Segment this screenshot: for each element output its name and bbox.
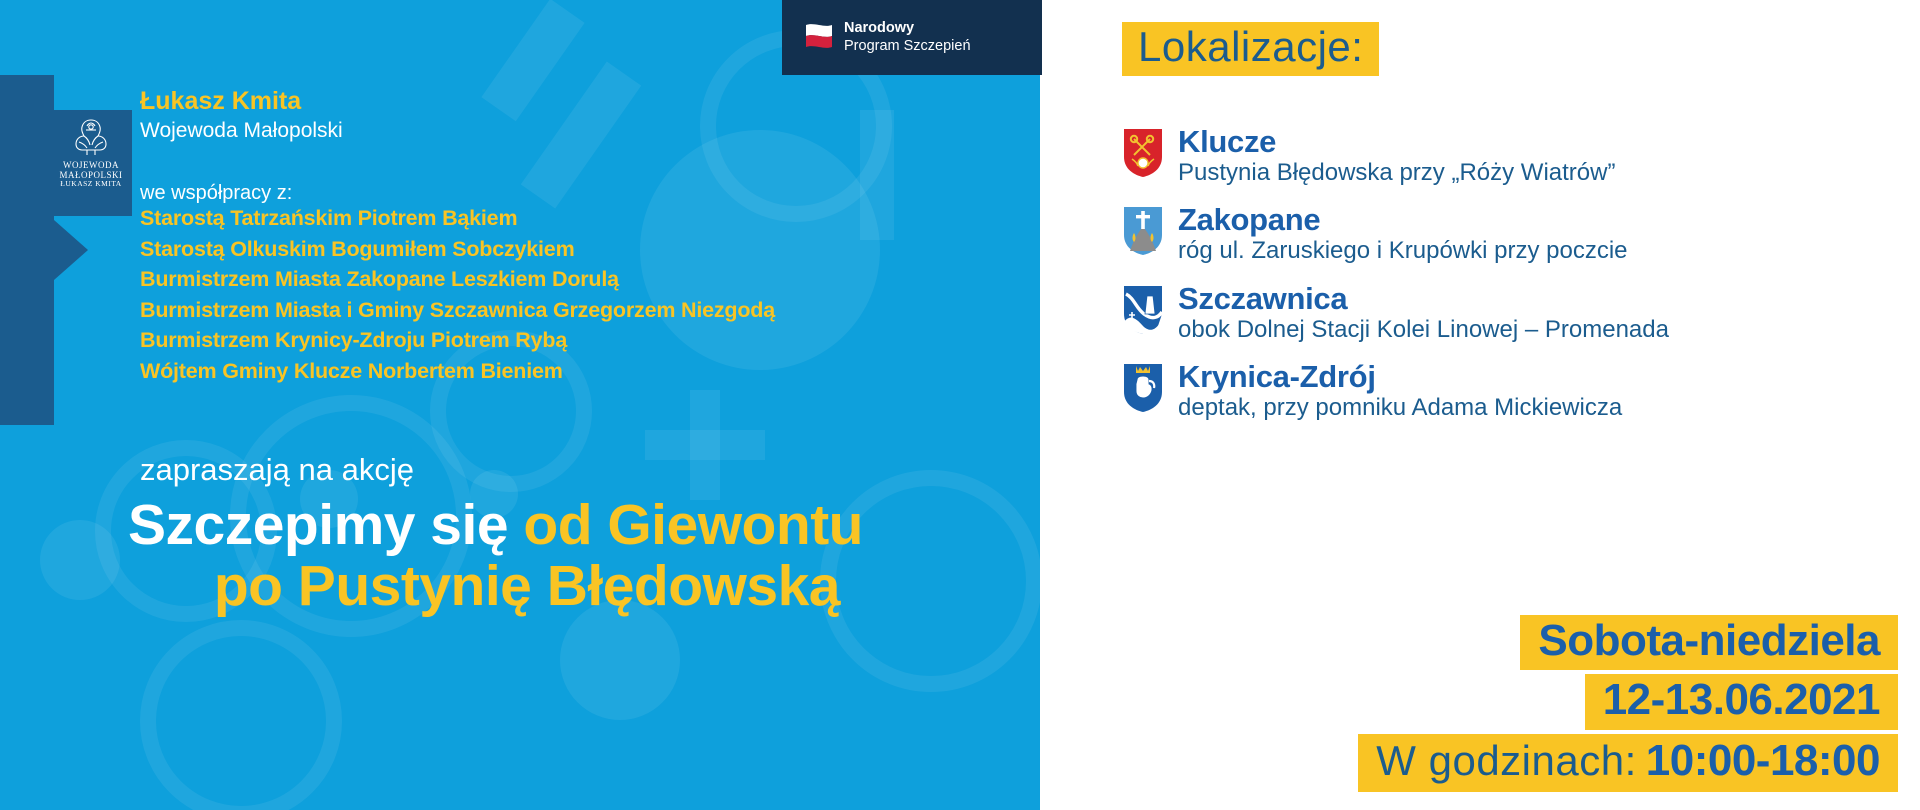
nps-line-1: Narodowy — [844, 20, 971, 37]
list-item: Klucze Pustynia Błędowska przy „Róży Wia… — [1122, 125, 1902, 186]
cooperation-list: Starostą Tatrzańskim Piotrem Bąkiem Star… — [140, 203, 775, 386]
governor-name-block: Łukasz Kmita Wojewoda Małopolski — [140, 88, 343, 143]
polish-eagle-icon — [71, 114, 111, 160]
right-locations-panel: Lokalizacje: — [1040, 0, 1920, 810]
location-city: Zakopane — [1178, 204, 1628, 236]
list-item: Krynica-Zdrój deptak, przy pomniku Adama… — [1122, 360, 1902, 421]
invitation-text: zapraszają na akcję — [140, 452, 414, 488]
cooperation-item: Burmistrzem Miasta Zakopane Leszkiem Dor… — [140, 264, 775, 295]
hours-row: W godzinach: 10:00-18:00 — [1358, 734, 1898, 792]
left-info-panel: WOJEWODA MAŁOPOLSKI ŁUKASZ KMITA Łukasz … — [0, 0, 1040, 810]
nps-line-2: Program Szczepień — [844, 38, 971, 55]
location-city: Klucze — [1178, 126, 1615, 158]
emblem-line-1: WOJEWODA — [63, 160, 119, 170]
hours-value: 10:00-18:00 — [1646, 736, 1880, 786]
location-text: Szczawnica obok Dolnej Stacji Kolei Lino… — [1178, 282, 1669, 343]
cooperation-item: Burmistrzem Miasta i Gminy Szczawnica Gr… — [140, 295, 775, 326]
polish-flag-icon — [804, 21, 834, 55]
nps-text: Narodowy Program Szczepień — [844, 20, 971, 54]
location-address: róg ul. Zaruskiego i Krupówki przy poczc… — [1178, 238, 1628, 265]
location-city: Krynica-Zdrój — [1178, 361, 1622, 393]
governor-name: Łukasz Kmita — [140, 88, 343, 116]
locations-list: Klucze Pustynia Błędowska przy „Róży Wia… — [1122, 125, 1902, 439]
szczawnica-coat-of-arms-icon — [1122, 284, 1164, 336]
location-address: deptak, przy pomniku Adama Mickiewicza — [1178, 395, 1622, 422]
voivode-emblem: WOJEWODA MAŁOPOLSKI ŁUKASZ KMITA — [50, 110, 132, 216]
event-schedule: Sobota-niedziela 12-13.06.2021 W godzina… — [1358, 615, 1898, 796]
watermark-dot — [40, 520, 120, 600]
location-text: Krynica-Zdrój deptak, przy pomniku Adama… — [1178, 360, 1622, 421]
watermark-ring — [140, 620, 342, 810]
slogan-white-part: Szczepimy się — [128, 493, 508, 557]
location-text: Klucze Pustynia Błędowska przy „Róży Wia… — [1178, 125, 1615, 186]
hours-label: W godzinach: — [1376, 737, 1636, 785]
cooperation-label: we współpracy z: — [140, 182, 292, 205]
location-text: Zakopane róg ul. Zaruskiego i Krupówki p… — [1178, 203, 1628, 264]
date-row: 12-13.06.2021 — [1358, 674, 1898, 730]
event-hours-box: W godzinach: 10:00-18:00 — [1358, 734, 1898, 792]
watermark-bar — [481, 0, 584, 121]
left-accent-stripe — [0, 75, 54, 425]
location-address: obok Dolnej Stacji Kolei Linowej – Prome… — [1178, 317, 1669, 344]
slogan-yellow-part: od Giewontu — [523, 493, 863, 557]
krynica-zdroj-coat-of-arms-icon — [1122, 362, 1164, 414]
cooperation-item: Burmistrzem Krynicy-Zdroju Piotrem Rybą — [140, 325, 775, 356]
list-item: Szczawnica obok Dolnej Stacji Kolei Lino… — [1122, 282, 1902, 343]
watermark-circle — [560, 600, 680, 720]
locations-heading: Lokalizacje: — [1122, 22, 1379, 76]
watermark-bar — [860, 110, 894, 240]
event-date: 12-13.06.2021 — [1585, 674, 1898, 730]
zakopane-coat-of-arms-icon — [1122, 205, 1164, 257]
national-vaccination-program-logo: Narodowy Program Szczepień — [782, 0, 1042, 75]
slogan-line-1: Szczepimy się od Giewontu — [128, 495, 918, 556]
list-item: Zakopane róg ul. Zaruskiego i Krupówki p… — [1122, 203, 1902, 264]
cooperation-item: Starostą Olkuskim Bogumiłem Sobczykiem — [140, 234, 775, 265]
event-days: Sobota-niedziela — [1520, 615, 1898, 671]
emblem-line-3: ŁUKASZ KMITA — [60, 180, 121, 188]
governor-title: Wojewoda Małopolski — [140, 119, 343, 143]
cooperation-item: Starostą Tatrzańskim Piotrem Bąkiem — [140, 203, 775, 234]
klucze-coat-of-arms-icon — [1122, 127, 1164, 179]
cooperation-item: Wójtem Gminy Klucze Norbertem Bieniem — [140, 356, 775, 387]
campaign-slogan: Szczepimy się od Giewontu po Pustynię Bł… — [128, 495, 918, 617]
slogan-line-2: po Pustynię Błędowską — [128, 556, 918, 617]
days-row: Sobota-niedziela — [1358, 615, 1898, 671]
vaccination-campaign-banner: WOJEWODA MAŁOPOLSKI ŁUKASZ KMITA Łukasz … — [0, 0, 1920, 810]
watermark-bar — [645, 430, 765, 460]
location-address: Pustynia Błędowska przy „Róży Wiatrów” — [1178, 160, 1615, 187]
location-city: Szczawnica — [1178, 283, 1669, 315]
locations-heading-text: Lokalizacje: — [1138, 23, 1363, 70]
